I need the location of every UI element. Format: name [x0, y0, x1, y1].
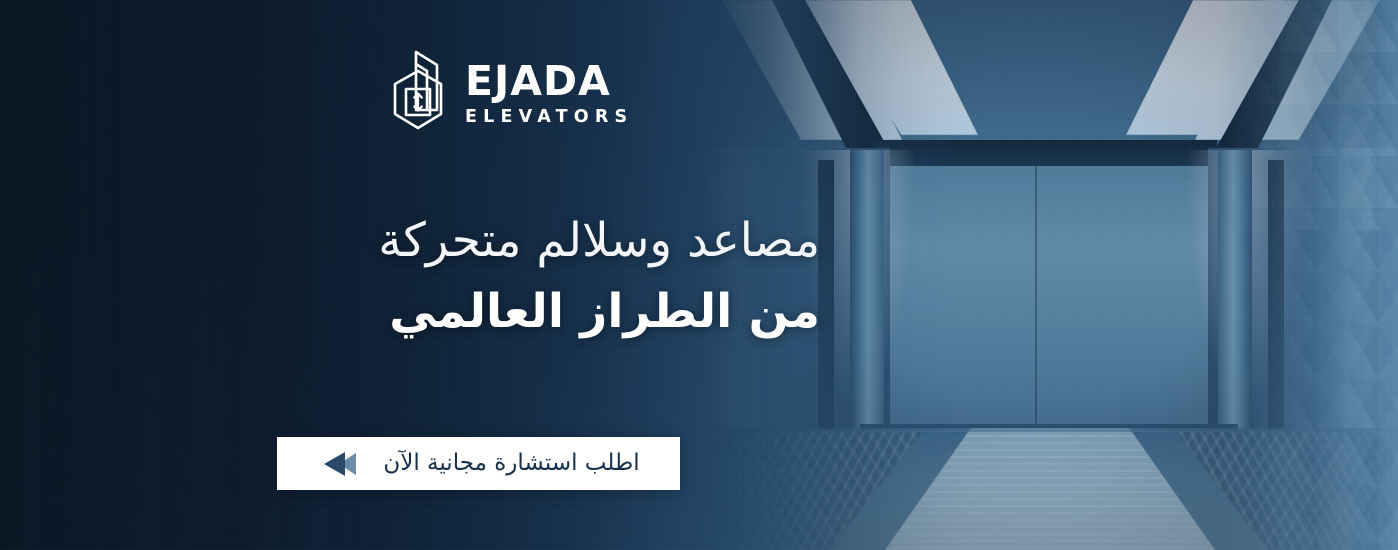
request-free-consultation-button[interactable]: اطلب استشارة مجانية الآن	[277, 437, 680, 490]
hero-banner: EJADA ELEVATORS مصاعد وسلالم متحركة من ا…	[0, 0, 1398, 550]
headline-line-1: مصاعد وسلالم متحركة	[120, 212, 820, 269]
banner-content: EJADA ELEVATORS مصاعد وسلالم متحركة من ا…	[0, 0, 1398, 550]
brand-tagline: ELEVATORS	[465, 109, 633, 127]
headline-line-2: من الطراز العالمي	[120, 283, 820, 340]
double-arrow-left-icon	[317, 451, 357, 477]
brand-name: EJADA	[465, 61, 633, 102]
elevator-building-logo-icon	[385, 48, 451, 140]
headline: مصاعد وسلالم متحركة من الطراز العالمي	[120, 212, 820, 341]
brand-logo[interactable]: EJADA ELEVATORS	[385, 48, 633, 140]
cta-label: اطلب استشارة مجانية الآن	[383, 452, 639, 475]
